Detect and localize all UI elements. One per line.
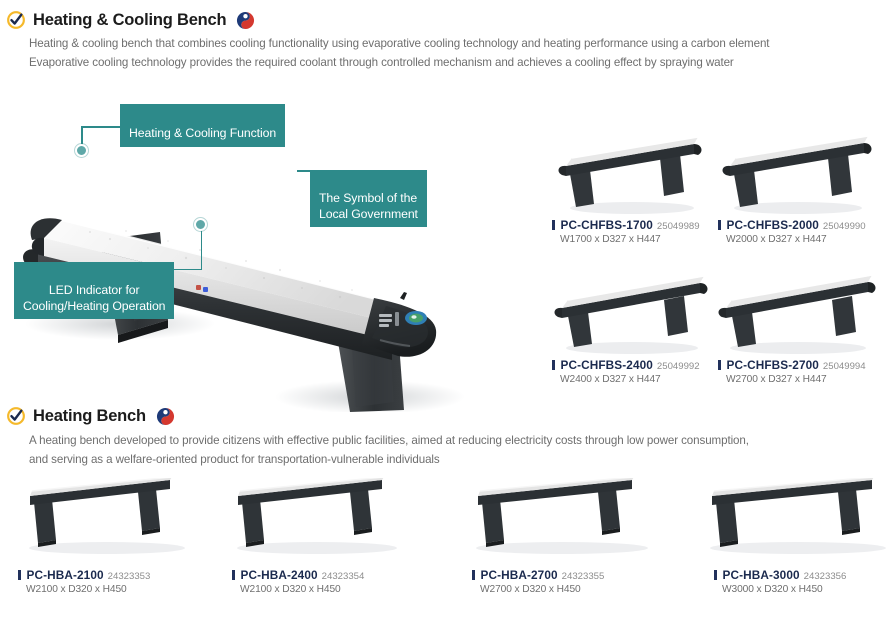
code-bullet-icon — [552, 360, 555, 370]
product-sku: 24323354 — [322, 571, 365, 582]
product-card-pc-hba-2100[interactable] — [12, 478, 202, 558]
section-heading-heating-bench: Heating Bench — [6, 406, 175, 426]
callout-anchor-dot-3 — [194, 218, 207, 231]
product-dimensions: W3000 x D320 x H450 — [714, 584, 846, 595]
callout-led-indicator: LED Indicator for Cooling/Heating Operat… — [14, 262, 174, 319]
callout-anchor-dot-1 — [75, 144, 88, 157]
product-dimensions: W2700 x D320 x H450 — [472, 584, 604, 595]
product-info-pc-hba-2700: PC-HBA-2700 24323355 W2700 x D320 x H450 — [472, 568, 604, 595]
section-title: Heating Bench — [33, 407, 146, 426]
product-info-pc-hba-2100: PC-HBA-2100 24323353 W2100 x D320 x H450 — [18, 568, 150, 595]
callout-heating-cooling-function: Heating & Cooling Function — [120, 104, 285, 147]
section-title: Heating & Cooling Bench — [33, 11, 226, 30]
product-thumbnail — [462, 478, 662, 558]
product-thumbnail — [718, 128, 878, 216]
check-circle-icon — [6, 10, 26, 30]
product-code: PC-HBA-2100 — [27, 568, 104, 582]
product-card-pc-hba-2400[interactable] — [222, 478, 412, 558]
product-thumbnail — [718, 268, 878, 356]
code-bullet-icon — [718, 220, 721, 230]
code-bullet-icon — [18, 570, 21, 580]
product-code: PC-CHFBS-2000 — [727, 218, 819, 232]
product-card-pc-hba-2700[interactable] — [462, 478, 662, 558]
product-dimensions: W2100 x D320 x H450 — [18, 584, 150, 595]
product-code: PC-CHFBS-2400 — [561, 358, 653, 372]
product-card-pc-chfbs-2400[interactable]: PC-CHFBS-2400 25049992 W2400 x D327 x H4… — [552, 268, 712, 385]
code-bullet-icon — [552, 220, 555, 230]
product-card-pc-chfbs-1700[interactable]: PC-CHFBS-1700 25049989 W1700 x D327 x H4… — [552, 128, 712, 245]
code-bullet-icon — [714, 570, 717, 580]
product-dimensions: W2400 x D327 x H447 — [552, 374, 712, 385]
product-info-pc-hba-2400: PC-HBA-2400 24323354 W2100 x D320 x H450 — [232, 568, 364, 595]
product-code: PC-HBA-2700 — [481, 568, 558, 582]
product-code-line: PC-HBA-2100 24323353 — [18, 568, 150, 582]
product-code: PC-CHFBS-2700 — [727, 358, 819, 372]
product-code-line: PC-HBA-2400 24323354 — [232, 568, 364, 582]
product-sku: 25049989 — [657, 221, 700, 232]
product-thumbnail — [700, 478, 896, 558]
product-dimensions: W2100 x D320 x H450 — [232, 584, 364, 595]
korea-government-symbol-icon — [236, 11, 255, 30]
description-line-2: Evaporative cooling technology provides … — [29, 53, 879, 72]
product-sku: 24323356 — [804, 571, 847, 582]
description-line-1: A heating bench developed to provide cit… — [29, 431, 879, 450]
product-code: PC-CHFBS-1700 — [561, 218, 653, 232]
product-catalog-page: Heating & Cooling Bench Heating & coolin… — [0, 0, 896, 630]
product-dimensions: W2000 x D327 x H447 — [718, 234, 878, 245]
code-bullet-icon — [232, 570, 235, 580]
product-thumbnail — [222, 478, 412, 558]
hero-product-image: Heating & Cooling Function The Symbol of… — [0, 92, 540, 412]
callout-label: LED Indicator for Cooling/Heating Operat… — [23, 283, 165, 313]
code-bullet-icon — [472, 570, 475, 580]
description-line-1: Heating & cooling bench that combines co… — [29, 34, 879, 53]
callout-local-government-symbol: The Symbol of the Local Government — [310, 170, 427, 227]
callout-label: The Symbol of the Local Government — [319, 191, 418, 221]
product-code-line: PC-HBA-2700 24323355 — [472, 568, 604, 582]
product-sku: 24323355 — [562, 571, 605, 582]
korea-government-symbol-icon — [156, 407, 175, 426]
product-code-line: PC-HBA-3000 24323356 — [714, 568, 846, 582]
section-description-heating: A heating bench developed to provide cit… — [29, 431, 879, 469]
product-sku: 25049990 — [823, 221, 866, 232]
callout-label: Heating & Cooling Function — [129, 126, 276, 140]
product-sku: 25049992 — [657, 361, 700, 372]
section-description-heating-cooling: Heating & cooling bench that combines co… — [29, 34, 879, 72]
product-code: PC-HBA-3000 — [723, 568, 800, 582]
callout-leader-line-3 — [160, 223, 202, 270]
product-card-pc-chfbs-2000[interactable]: PC-CHFBS-2000 25049990 W2000 x D327 x H4… — [718, 128, 878, 245]
product-code-line: PC-CHFBS-2400 25049992 — [552, 358, 712, 372]
product-sku: 25049994 — [823, 361, 866, 372]
product-dimensions: W1700 x D327 x H447 — [552, 234, 712, 245]
product-thumbnail — [552, 128, 712, 216]
product-thumbnail — [552, 268, 712, 356]
section-heading-heating-cooling-bench: Heating & Cooling Bench — [6, 10, 255, 30]
product-dimensions: W2700 x D327 x H447 — [718, 374, 878, 385]
product-card-pc-hba-3000[interactable] — [700, 478, 896, 558]
product-sku: 24323353 — [108, 571, 151, 582]
product-thumbnail — [12, 478, 202, 558]
product-card-pc-chfbs-2700[interactable]: PC-CHFBS-2700 25049994 W2700 x D327 x H4… — [718, 268, 878, 385]
product-info-pc-hba-3000: PC-HBA-3000 24323356 W3000 x D320 x H450 — [714, 568, 846, 595]
product-code-line: PC-CHFBS-2700 25049994 — [718, 358, 878, 372]
callout-leader-line-2 — [297, 170, 311, 225]
code-bullet-icon — [718, 360, 721, 370]
product-code-line: PC-CHFBS-2000 25049990 — [718, 218, 878, 232]
description-line-2: and serving as a welfare-oriented produc… — [29, 450, 879, 469]
product-code: PC-HBA-2400 — [241, 568, 318, 582]
check-circle-icon — [6, 406, 26, 426]
product-code-line: PC-CHFBS-1700 25049989 — [552, 218, 712, 232]
